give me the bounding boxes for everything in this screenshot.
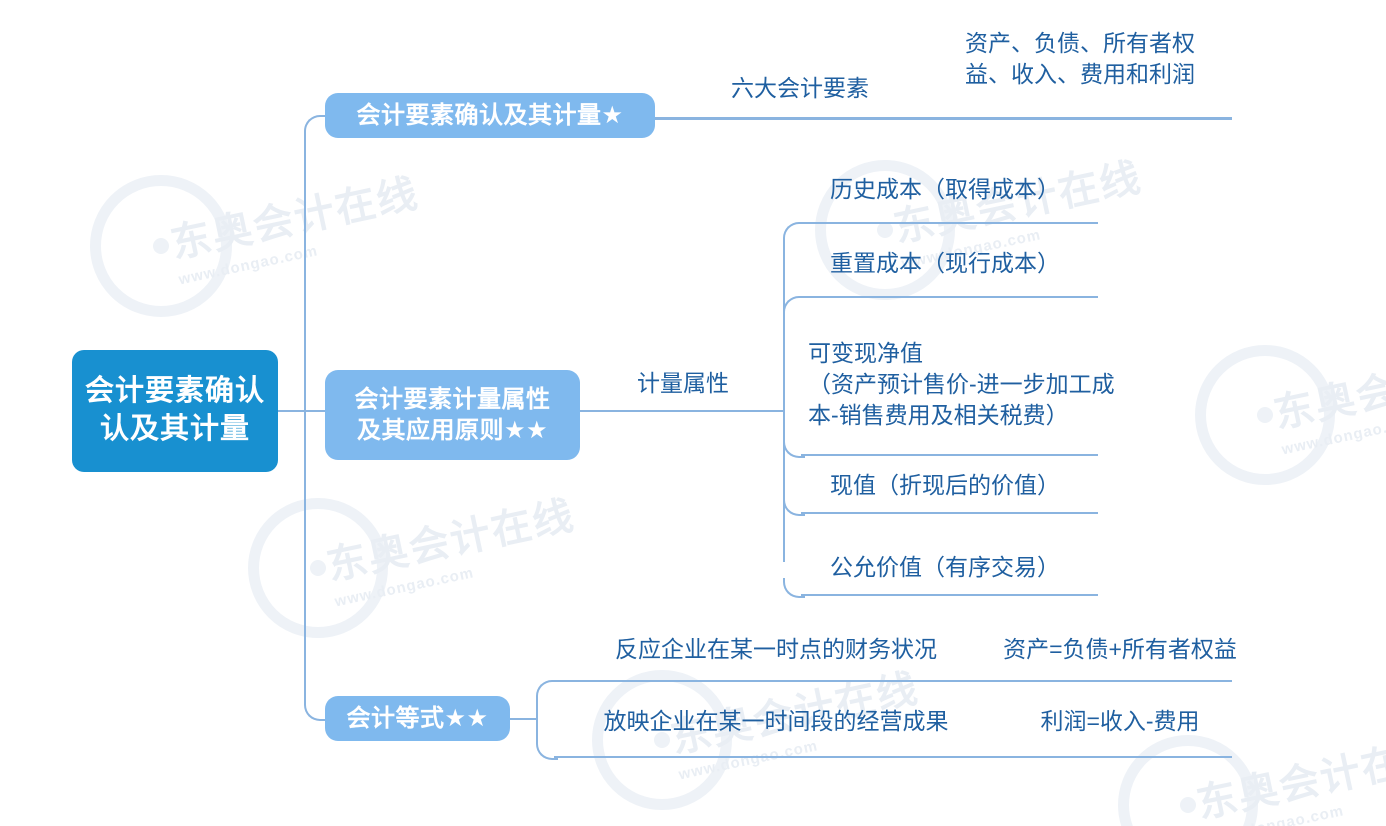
connector-spine <box>304 131 306 703</box>
connector-branch2-stem <box>580 410 783 412</box>
branch3-leaf-1-text: 反应企业在某一时点的财务状况 <box>556 634 996 665</box>
watermark: 东奥会计在线 www.dongao.com <box>1268 331 1386 459</box>
branch2-leaf-4: 现值（折现后的价值） <box>790 470 1100 501</box>
branch-node-2-label-line1: 会计要素计量属性 <box>355 384 551 415</box>
connector-branch2-spine <box>783 238 785 562</box>
mindmap-canvas: 东奥会计在线 www.dongao.com 东奥会计在线 www.dongao.… <box>0 0 1386 826</box>
watermark-url: www.dongao.com <box>177 219 427 288</box>
watermark-url: www.dongao.com <box>1203 779 1386 826</box>
branch2-leaf-1: 历史成本（取得成本） <box>790 174 1100 205</box>
branch1-mid-label: 六大会计要素 <box>700 73 900 104</box>
branch3-leaf-2-value: 利润=收入-费用 <box>990 706 1250 737</box>
watermark-ring <box>248 498 388 638</box>
connector-underline-leaf-1 <box>801 222 1098 224</box>
connector-underline-branch3-leaf-2 <box>554 756 1232 758</box>
connector-branch3-stem <box>510 718 536 720</box>
branch-node-3[interactable]: 会计等式★★ <box>325 696 510 741</box>
branch-node-2-label-line2: 及其应用原则★★ <box>357 415 548 446</box>
watermark-url: www.dongao.com <box>333 541 583 610</box>
connector-underline-branch3-leaf-1 <box>554 680 1232 682</box>
branch2-leaf-3: 可变现净值 （资产预计售价-进一步加工成 本-销售费用及相关税费） <box>808 338 1218 430</box>
connector-to-branch2 <box>304 410 326 412</box>
connector-branch1-line <box>655 117 1232 120</box>
watermark: 东奥会计在线 www.dongao.com <box>321 483 584 611</box>
connector-underline-leaf-3 <box>801 454 1098 456</box>
watermark-title: 东奥会计在线 <box>321 483 580 592</box>
branch-node-1-label: 会计要素确认及其计量★ <box>356 100 623 131</box>
watermark-title: 东奥会计在线 <box>165 161 424 270</box>
branch-node-3-label: 会计等式★★ <box>346 703 488 734</box>
connector-corner-leaf-2 <box>783 296 805 316</box>
connector-branch3-spine <box>536 696 538 740</box>
watermark-title: 东奥会计在线 <box>1268 331 1386 440</box>
connector-root-stub <box>278 410 306 412</box>
watermark-ring <box>592 670 732 810</box>
watermark-ring <box>1118 735 1258 826</box>
watermark-ring <box>90 175 232 317</box>
branch2-mid-label: 计量属性 <box>603 368 763 399</box>
connector-corner-branch3-leaf-1 <box>536 680 558 700</box>
branch2-leaf-5: 公允价值（有序交易） <box>790 552 1100 583</box>
root-node-label: 会计要素确认 认及其计量 <box>85 373 265 448</box>
branch-node-1[interactable]: 会计要素确认及其计量★ <box>325 93 655 138</box>
watermark-url: www.dongao.com <box>1280 389 1386 458</box>
branch3-leaf-1-value: 资产=负债+所有者权益 <box>990 634 1250 665</box>
root-node[interactable]: 会计要素确认 认及其计量 <box>72 350 278 472</box>
branch2-leaf-2: 重置成本（现行成本） <box>790 248 1100 279</box>
connector-corner-leaf-1 <box>783 222 805 242</box>
watermark: 东奥会计在线 www.dongao.com <box>165 161 428 289</box>
branch-node-2[interactable]: 会计要素计量属性 及其应用原则★★ <box>325 370 580 460</box>
connector-underline-leaf-4 <box>801 512 1098 514</box>
connector-underline-leaf-5 <box>801 594 1098 596</box>
branch3-leaf-2-text: 放映企业在某一时间段的经营成果 <box>556 706 996 737</box>
branch1-leaf-1: 资产、负债、所有者权 益、收入、费用和利润 <box>930 28 1230 90</box>
connector-underline-leaf-2 <box>801 296 1098 298</box>
